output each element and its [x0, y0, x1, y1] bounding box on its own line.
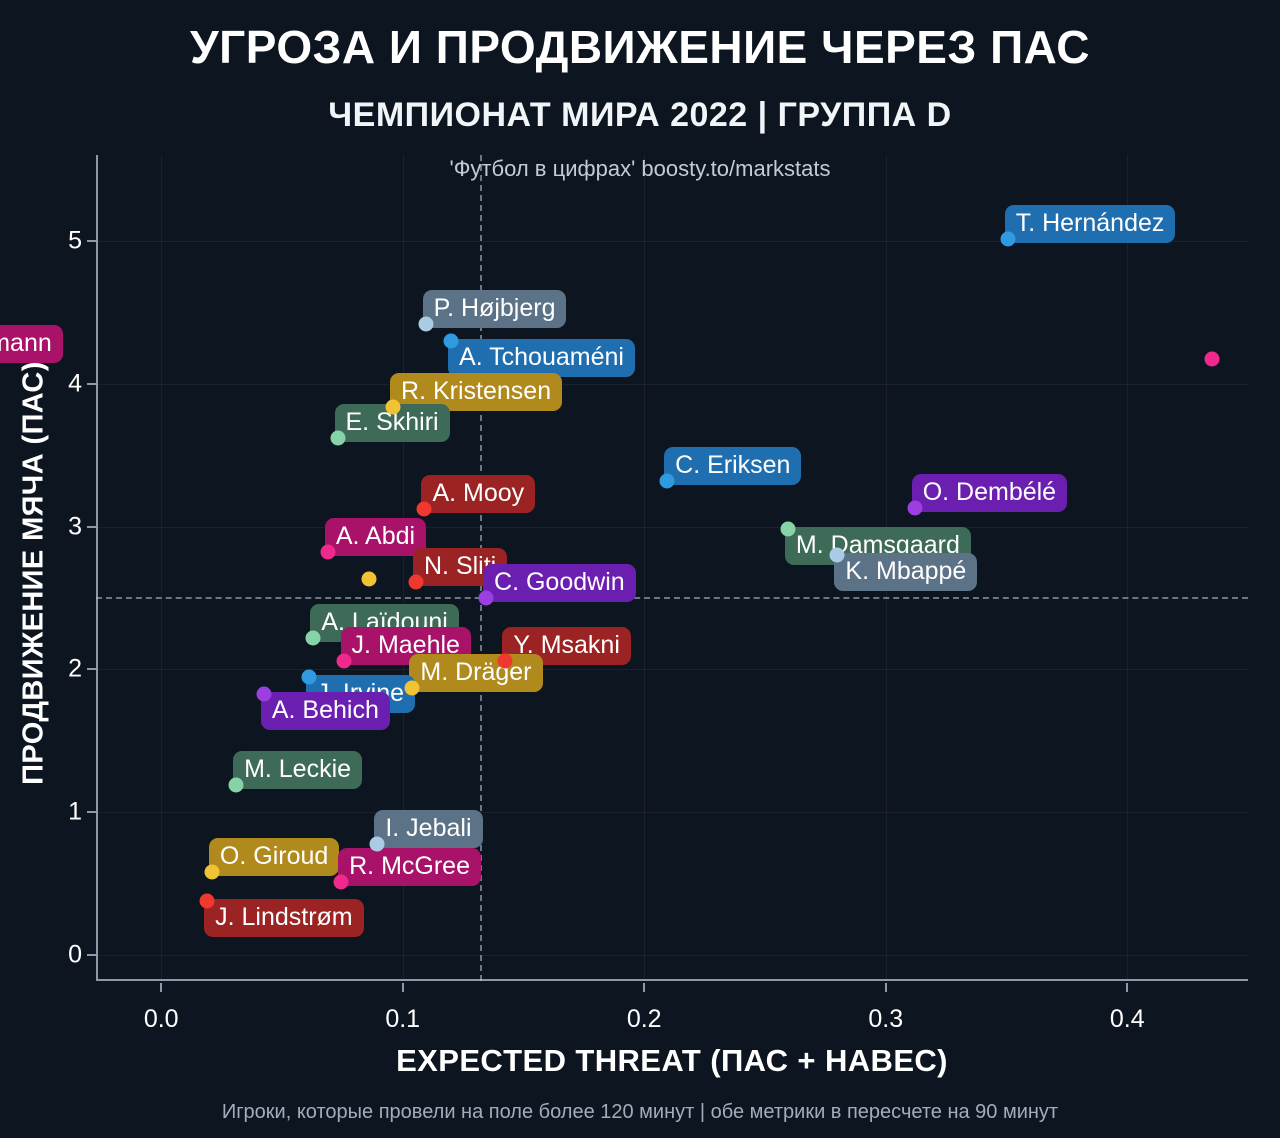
gridline-x-4: [1127, 155, 1128, 981]
point-marker[interactable]: [418, 316, 433, 331]
point-label: M. Dräger: [409, 654, 542, 692]
x-tick-mark-3: [885, 983, 887, 992]
point-label: A. Behich: [261, 692, 390, 730]
point-label: O. Giroud: [209, 838, 339, 876]
chart-subtitle: ЧЕМПИОНАТ МИРА 2022 | ГРУППА D: [0, 96, 1280, 135]
point-label: C. Goodwin: [483, 564, 636, 602]
gridline-y-3: [96, 527, 1248, 528]
point-label: R. McGree: [338, 848, 481, 886]
y-tick-label-4: 4: [68, 369, 82, 398]
point-label: A. Mooy: [421, 475, 535, 513]
point-marker[interactable]: [320, 545, 335, 560]
point-marker[interactable]: [1204, 352, 1219, 367]
point-marker[interactable]: [370, 836, 385, 851]
point-marker[interactable]: [907, 500, 922, 515]
y-tick-mark-5: [87, 240, 96, 242]
point-marker[interactable]: [409, 575, 424, 590]
x-tick-label-3: 0.3: [868, 1005, 903, 1034]
point-label: T. Hernández: [1005, 205, 1176, 243]
point-marker[interactable]: [780, 522, 795, 537]
gridline-y-2: [96, 669, 1248, 670]
point-marker[interactable]: [479, 591, 494, 606]
x-axis-label: EXPECTED THREAT (ПАС + НАВЕС): [396, 1043, 948, 1079]
point-marker[interactable]: [660, 473, 675, 488]
point-marker[interactable]: [306, 631, 321, 646]
chart-root: УГРОЗА И ПРОДВИЖЕНИЕ ЧЕРЕЗ ПАС ЧЕМПИОНАТ…: [0, 0, 1280, 1138]
y-tick-mark-0: [87, 954, 96, 956]
point-marker[interactable]: [204, 865, 219, 880]
x-tick-label-4: 0.4: [1110, 1005, 1145, 1034]
point-marker[interactable]: [256, 686, 271, 701]
point-label: A. Tchouaméni: [448, 339, 635, 377]
x-tick-label-0: 0.0: [144, 1005, 179, 1034]
point-marker[interactable]: [830, 548, 845, 563]
point-marker[interactable]: [361, 572, 376, 587]
point-label: M. Leckie: [233, 751, 362, 789]
x-tick-mark-4: [1126, 983, 1128, 992]
x-axis-line: [96, 979, 1248, 981]
point-marker[interactable]: [444, 333, 459, 348]
point-label: A. Abdi: [325, 518, 426, 556]
point-marker[interactable]: [336, 653, 351, 668]
point-label: J. Lindstrøm: [204, 899, 364, 937]
y-tick-mark-3: [87, 526, 96, 528]
x-tick-mark-2: [643, 983, 645, 992]
point-marker[interactable]: [229, 778, 244, 793]
point-label: O. Dembélé: [912, 474, 1067, 512]
chart-title: УГРОЗА И ПРОДВИЖЕНИЕ ЧЕРЕЗ ПАС: [0, 24, 1280, 72]
y-tick-label-2: 2: [68, 655, 82, 684]
gridline-y-0: [96, 955, 1248, 956]
point-marker[interactable]: [498, 653, 513, 668]
y-tick-label-5: 5: [68, 226, 82, 255]
y-axis-line: [96, 155, 98, 981]
point-label: A. Griezmann: [0, 325, 63, 363]
plot-area: 0123450.00.10.20.30.4 T. HernándezA. Gri…: [96, 155, 1248, 991]
gridline-y-1: [96, 812, 1248, 813]
x-tick-label-1: 0.1: [385, 1005, 420, 1034]
point-marker[interactable]: [386, 399, 401, 414]
y-tick-label-0: 0: [68, 941, 82, 970]
y-tick-mark-4: [87, 383, 96, 385]
x-tick-mark-1: [402, 983, 404, 992]
y-tick-label-3: 3: [68, 512, 82, 541]
reference-line-horizontal: [96, 597, 1248, 599]
point-marker[interactable]: [417, 502, 432, 517]
y-tick-label-1: 1: [68, 798, 82, 827]
point-marker[interactable]: [330, 430, 345, 445]
point-marker[interactable]: [334, 875, 349, 890]
point-label: I. Jebali: [374, 810, 482, 848]
chart-footnote: Игроки, которые провели на поле более 12…: [0, 1101, 1280, 1124]
x-tick-label-2: 0.2: [627, 1005, 662, 1034]
y-tick-mark-2: [87, 668, 96, 670]
gridline-x-0: [161, 155, 162, 981]
y-axis-label: ПРОДВИЖЕНИЕ МЯЧА (ПАС): [18, 361, 51, 785]
point-marker[interactable]: [405, 681, 420, 696]
point-marker[interactable]: [200, 893, 215, 908]
point-marker[interactable]: [301, 669, 316, 684]
y-tick-mark-1: [87, 811, 96, 813]
point-label: K. Mbappé: [834, 553, 977, 591]
gridline-y-4: [96, 384, 1248, 385]
point-label: P. Højbjerg: [423, 290, 567, 328]
x-tick-mark-0: [160, 983, 162, 992]
point-label: C. Eriksen: [664, 447, 801, 485]
gridline-x-2: [644, 155, 645, 981]
point-marker[interactable]: [1000, 232, 1015, 247]
